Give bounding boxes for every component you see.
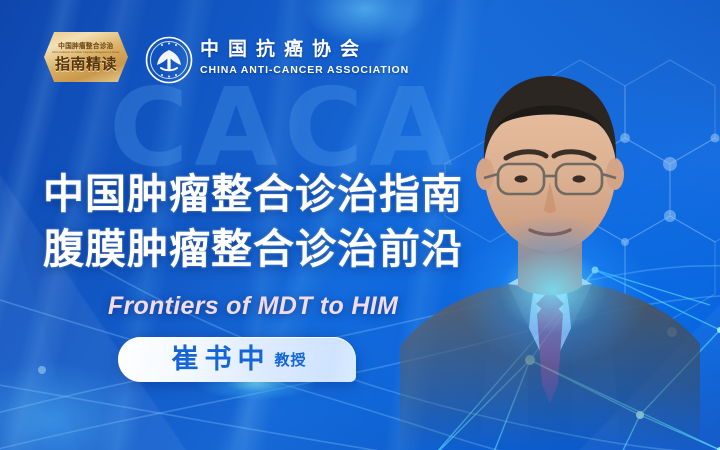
guide-badge-top-text: 中国肿瘤整合诊治 xyxy=(58,42,113,51)
webinar-banner: CACA xyxy=(0,0,720,450)
caca-emblem-icon xyxy=(145,36,193,84)
speaker-name-badge: 崔书中 教授 xyxy=(118,337,356,382)
page-title-line-1: 中国肿瘤整合诊治指南 xyxy=(18,168,488,221)
speaker-honorific: 教授 xyxy=(274,350,306,370)
page-subtitle-english: Frontiers of MDT to HIM xyxy=(18,292,488,321)
guide-badge: 中国肿瘤整合诊治 CACA Guidelines for Holistic In… xyxy=(44,32,128,82)
speaker-name: 崔书中 xyxy=(167,345,270,375)
guide-badge-main-text: 指南精读 xyxy=(55,56,117,73)
association-chinese-name: 中国抗癌协会 xyxy=(200,38,409,62)
association-name-block: 中国抗癌协会 CHINA ANTI-CANCER ASSOCIATION xyxy=(200,38,409,77)
guide-badge-english-microtext: CACA Guidelines for Holistic Integrative… xyxy=(52,51,120,55)
title-block: 中国肿瘤整合诊治指南 腹膜肿瘤整合诊治前沿 xyxy=(18,168,488,276)
header: 中国肿瘤整合诊治 CACA Guidelines for Holistic In… xyxy=(0,0,720,100)
page-title-line-2: 腹膜肿瘤整合诊治前沿 xyxy=(18,223,488,276)
association-english-name: CHINA ANTI-CANCER ASSOCIATION xyxy=(200,63,409,77)
